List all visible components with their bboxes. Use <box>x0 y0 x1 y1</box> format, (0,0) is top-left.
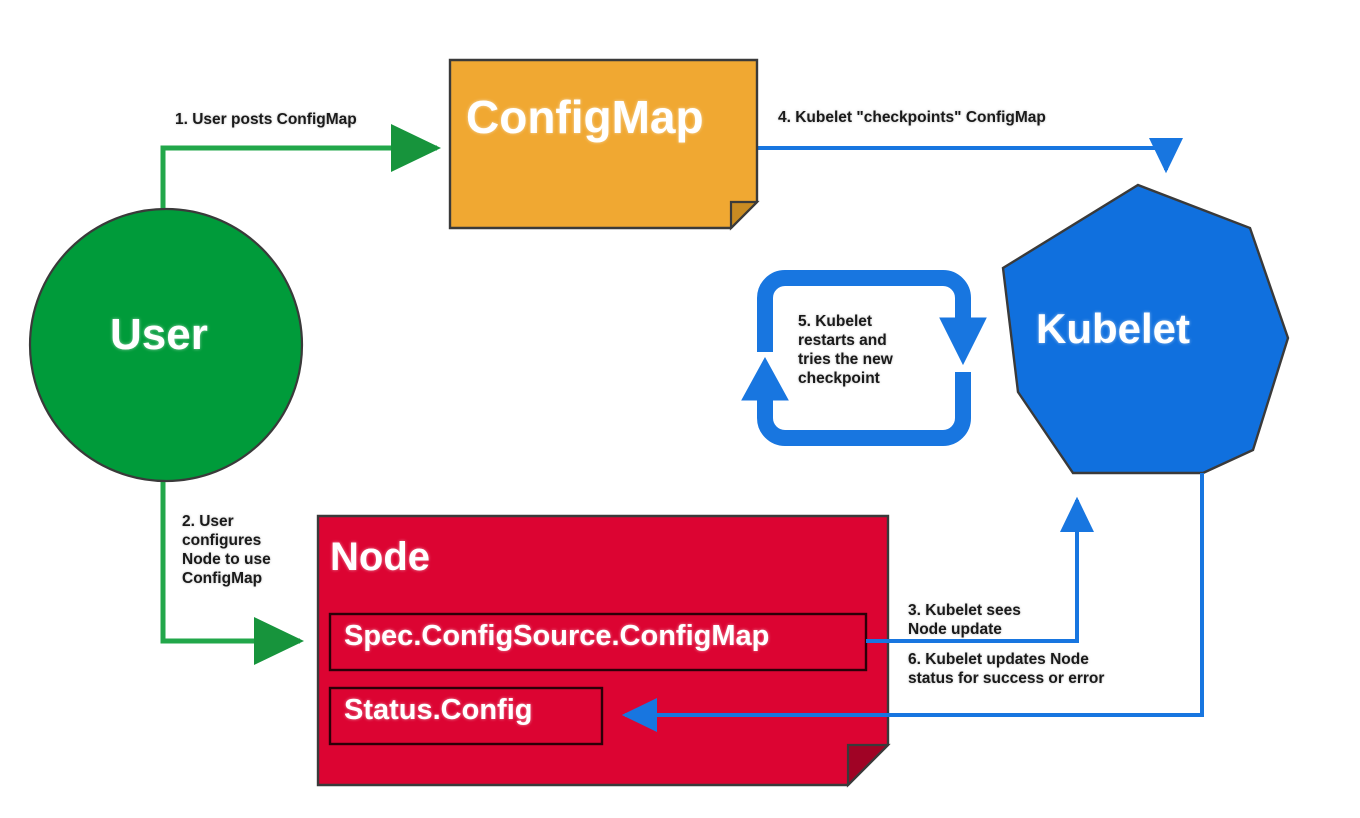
step-label-4: 4. Kubelet "checkpoints" ConfigMap <box>778 108 1046 127</box>
label-node: Node <box>330 535 430 580</box>
step-label-1: 1. User posts ConfigMap <box>175 110 357 129</box>
step-label-6: 6. Kubelet updates Node status for succe… <box>908 650 1104 688</box>
label-configmap: ConfigMap <box>466 90 704 144</box>
label-user: User <box>110 310 208 360</box>
diagram-canvas: User ConfigMap Kubelet Node Spec.ConfigS… <box>0 0 1360 818</box>
shape-configmap <box>450 60 757 228</box>
step-label-2: 2. User configures Node to use ConfigMap <box>182 512 271 588</box>
step-label-3: 3. Kubelet sees Node update <box>908 601 1021 639</box>
label-kubelet: Kubelet <box>1036 305 1190 353</box>
label-node-field-status: Status.Config <box>344 694 533 727</box>
label-node-field-spec: Spec.ConfigSource.ConfigMap <box>344 620 769 653</box>
step-label-5: 5. Kubelet restarts and tries the new ch… <box>798 312 893 388</box>
arrow-step-4 <box>757 148 1166 170</box>
